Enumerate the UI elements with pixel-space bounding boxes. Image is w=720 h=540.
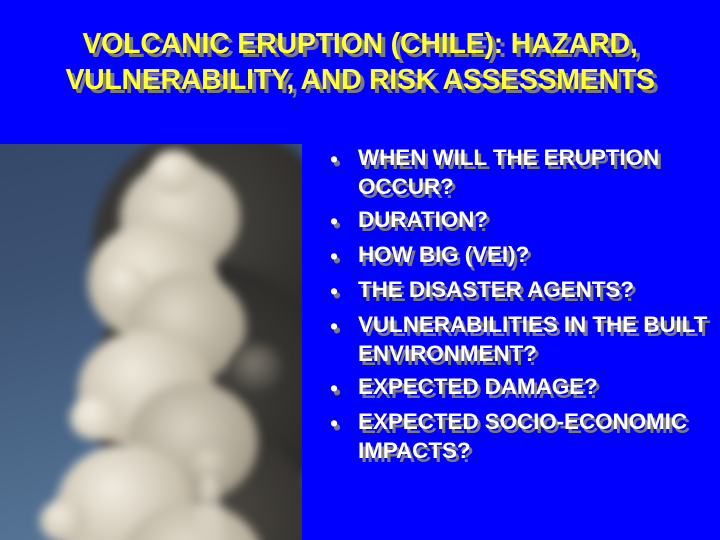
volcanic-ash-plume-photo — [0, 144, 302, 540]
presentation-slide: VOLCANIC ERUPTION (CHILE): HAZARD, VULNE… — [0, 0, 720, 540]
bullet-dot-icon: • — [326, 276, 358, 306]
ash-puff — [70, 396, 120, 440]
ash-puff — [104, 264, 148, 304]
bullet-text-7: EXPECTED SOCIO-ECONOMIC IMPACTS? — [358, 408, 714, 465]
bullet-text-6: EXPECTED DAMAGE? — [358, 373, 714, 402]
ash-plume — [0, 144, 302, 540]
bullet-text-1: WHEN WILL THE ERUPTION OCCUR? — [358, 144, 714, 201]
bullet-dot-icon: • — [326, 311, 358, 341]
bullet-item-6: • EXPECTED DAMAGE? — [326, 373, 714, 403]
bullet-item-5: • VULNERABILITIES IN THE BUILT ENVIRONME… — [326, 311, 714, 368]
slide-title: VOLCANIC ERUPTION (CHILE): HAZARD, VULNE… — [0, 26, 720, 98]
bullet-item-3: • HOW BIG (VEI)? — [326, 241, 714, 271]
slide-title-line-1: VOLCANIC ERUPTION (CHILE): HAZARD, — [0, 26, 720, 62]
bullet-dot-icon: • — [326, 241, 358, 271]
bullet-text-2: DURATION? — [358, 206, 714, 235]
ash-puff — [150, 150, 198, 194]
bullet-item-7: • EXPECTED SOCIO-ECONOMIC IMPACTS? — [326, 408, 714, 465]
bullet-dot-icon: • — [326, 408, 358, 438]
bullet-list: • WHEN WILL THE ERUPTION OCCUR? • DURATI… — [326, 144, 714, 470]
bullet-item-2: • DURATION? — [326, 206, 714, 236]
ash-puff — [40, 500, 86, 540]
bullet-text-4: THE DISASTER AGENTS? — [358, 276, 714, 305]
bullet-item-4: • THE DISASTER AGENTS? — [326, 276, 714, 306]
bullet-dot-icon: • — [326, 206, 358, 236]
bullet-text-5: VULNERABILITIES IN THE BUILT ENVIRONMENT… — [358, 311, 714, 368]
ash-puff — [230, 344, 282, 392]
bullet-dot-icon: • — [326, 144, 358, 174]
bullet-dot-icon: • — [326, 373, 358, 403]
bullet-text-3: HOW BIG (VEI)? — [358, 241, 714, 270]
slide-title-line-2: VULNERABILITY, AND RISK ASSESSMENTS — [0, 62, 720, 98]
bullet-item-1: • WHEN WILL THE ERUPTION OCCUR? — [326, 144, 714, 201]
